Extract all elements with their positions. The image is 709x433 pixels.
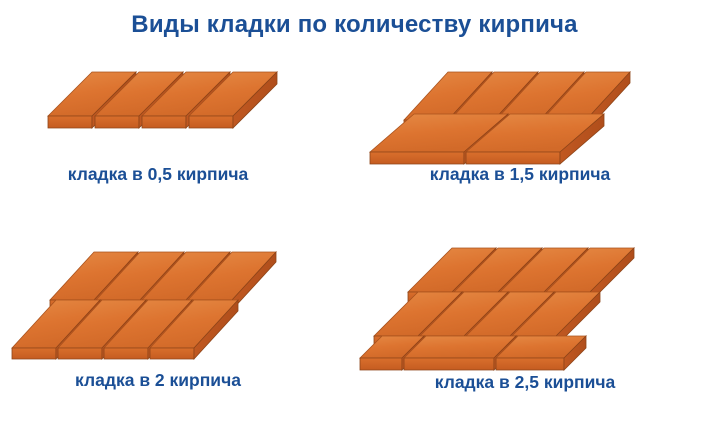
figure-panel-one-and-half-brick: кладка в 1,5 кирпича: [360, 52, 680, 207]
brick-row-front: [360, 336, 586, 370]
brick-row-front: [370, 114, 604, 164]
figure-caption-half-brick: кладка в 0,5 кирпича: [8, 164, 308, 185]
figure-panel-two-and-half-brick: кладка в 2,5 кирпича: [360, 232, 690, 404]
figure-panel-half-brick: кладка в 0,5 кирпича: [8, 58, 308, 208]
brick-diagram-half: [8, 58, 308, 168]
brick-diagram-one-and-half: [360, 52, 680, 172]
figure-caption-two-brick: кладка в 2 кирпича: [8, 370, 308, 391]
page-title: Виды кладки по количеству кирпича: [0, 11, 709, 39]
figure-panel-two-brick: кладка в 2 кирпича: [8, 238, 308, 403]
brick-row-front: [12, 300, 238, 359]
brick-diagram-two-and-half: [360, 232, 690, 382]
brick-diagram-two: [8, 238, 308, 378]
figure-caption-two-and-half-brick: кладка в 2,5 кирпича: [360, 372, 690, 393]
figure-caption-one-and-half-brick: кладка в 1,5 кирпича: [360, 164, 680, 185]
page-root: Виды кладки по количеству кирпича: [0, 0, 709, 433]
